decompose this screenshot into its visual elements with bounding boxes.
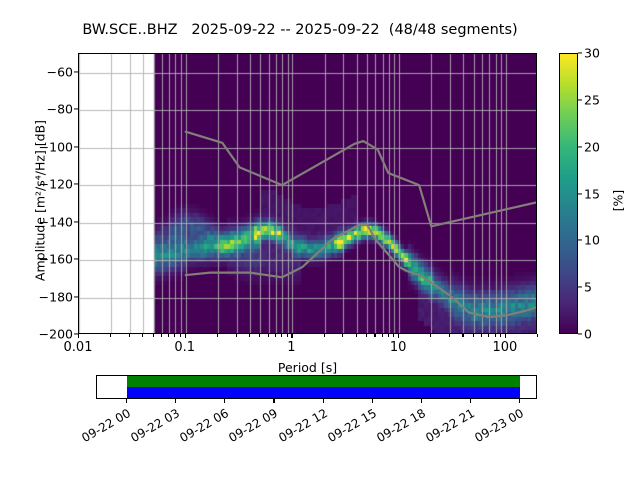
x-tick-label: 1 [287, 340, 295, 355]
x-tick-mark [382, 334, 383, 337]
y-tick-label: −60 [47, 64, 73, 79]
timeline-tick-mark [323, 399, 324, 403]
colorbar-tick-mark [578, 193, 582, 194]
x-tick-mark [462, 334, 463, 337]
colorbar-label: [%] [611, 151, 626, 251]
timeline-bar-data-coverage [127, 387, 520, 398]
data-coverage-timeline [96, 375, 537, 399]
y-tick-mark [74, 259, 78, 260]
x-tick-mark [180, 334, 181, 337]
x-tick-mark [505, 334, 506, 338]
x-tick-mark [481, 334, 482, 337]
x-tick-mark [324, 334, 325, 337]
ppsd-figure: BW.SCE..BHZ 2025-09-22 -- 2025-09-22 (48… [0, 0, 640, 480]
colorbar-tick-label: 10 [584, 233, 600, 248]
page-title: BW.SCE..BHZ 2025-09-22 -- 2025-09-22 (48… [0, 22, 600, 38]
colorbar-tick-mark [578, 240, 582, 241]
y-tick-mark [74, 71, 78, 72]
colorbar-tick-mark [578, 52, 582, 53]
x-tick-mark [366, 334, 367, 337]
x-tick-mark [129, 334, 130, 337]
colorbar-tick-mark [578, 287, 582, 288]
nlnm-curve [186, 224, 537, 317]
x-tick-mark [398, 334, 399, 338]
x-tick-mark [374, 334, 375, 337]
x-tick-mark [537, 334, 538, 337]
x-tick-mark [275, 334, 276, 337]
colorbar-tick-label: 15 [584, 186, 600, 201]
colorbar-tick-mark [578, 333, 582, 334]
x-axis-label: Period [s] [78, 360, 537, 375]
timeline-tick-mark [421, 399, 422, 403]
x-tick-mark [488, 334, 489, 337]
y-axis-label: Amplitude [m²/s⁴/Hz] [dB] [33, 76, 48, 326]
y-tick-mark [74, 296, 78, 297]
x-tick-mark [236, 334, 237, 337]
x-tick-mark [473, 334, 474, 337]
x-tick-mark [161, 334, 162, 337]
noise-model-curves [79, 54, 537, 334]
x-tick-label: 100 [492, 340, 517, 355]
x-tick-label: 0.01 [64, 340, 93, 355]
x-tick-mark [249, 334, 250, 337]
x-tick-mark [259, 334, 260, 337]
timeline-tick-mark [273, 399, 274, 403]
x-tick-mark [500, 334, 501, 337]
x-tick-mark [342, 334, 343, 337]
y-tick-mark [74, 109, 78, 110]
x-tick-mark [430, 334, 431, 337]
x-tick-mark [153, 334, 154, 337]
colorbar-gradient [560, 54, 577, 333]
x-tick-label: 0.1 [174, 340, 195, 355]
x-tick-label: 10 [390, 340, 407, 355]
timeline-tick-mark [224, 399, 225, 403]
y-tick-mark [74, 146, 78, 147]
ppsd-plot-area [78, 53, 537, 334]
x-tick-mark [168, 334, 169, 337]
timeline-tick-mark [519, 399, 520, 403]
colorbar-tick-label: 5 [584, 280, 592, 295]
x-tick-mark [268, 334, 269, 337]
x-tick-mark [142, 334, 143, 337]
x-tick-mark [393, 334, 394, 337]
colorbar-tick-label: 25 [584, 92, 600, 107]
x-tick-mark [174, 334, 175, 337]
x-tick-mark [217, 334, 218, 337]
x-tick-mark [185, 334, 186, 338]
timeline-tick-mark [175, 399, 176, 403]
timeline-bar-psd-segments [127, 376, 520, 387]
nhnm-curve [186, 132, 537, 227]
timeline-tick-mark [126, 399, 127, 403]
x-tick-mark [287, 334, 288, 337]
x-tick-mark [388, 334, 389, 337]
colorbar-tick-mark [578, 99, 582, 100]
colorbar-tick-label: 30 [584, 46, 600, 61]
y-tick-label: −80 [47, 102, 73, 117]
x-tick-mark [281, 334, 282, 337]
y-tick-mark [74, 184, 78, 185]
timeline-tick-mark [470, 399, 471, 403]
y-tick-mark [74, 221, 78, 222]
colorbar-tick-mark [578, 146, 582, 147]
colorbar [559, 53, 578, 334]
x-tick-mark [78, 334, 79, 338]
colorbar-tick-label: 0 [584, 327, 592, 342]
x-tick-mark [110, 334, 111, 337]
x-tick-mark [356, 334, 357, 337]
x-tick-mark [291, 334, 292, 338]
colorbar-tick-label: 20 [584, 139, 600, 154]
x-tick-mark [449, 334, 450, 337]
x-tick-mark [495, 334, 496, 337]
timeline-tick-mark [372, 399, 373, 403]
